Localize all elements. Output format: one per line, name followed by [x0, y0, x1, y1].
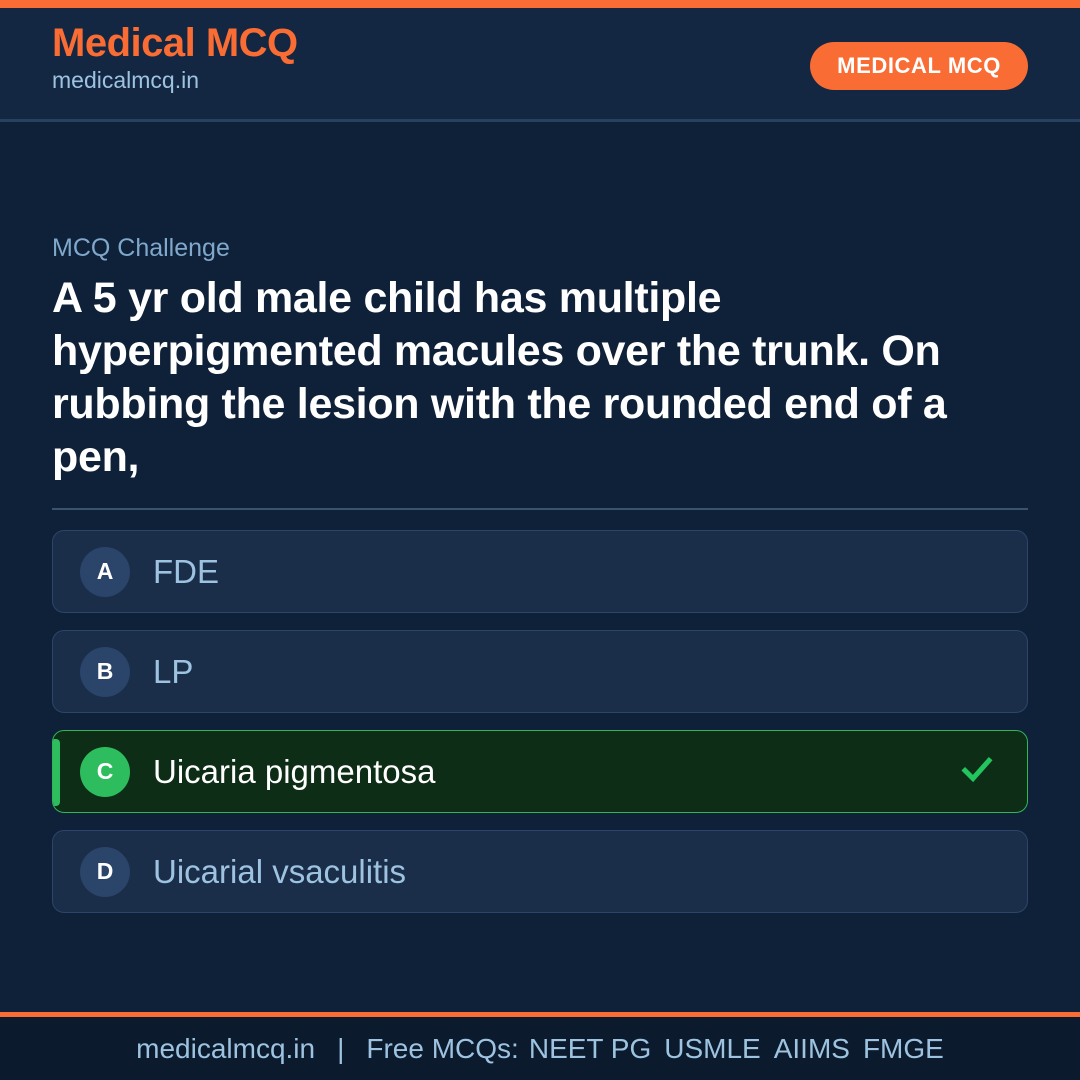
app-header: Medical MCQ medicalmcq.in MEDICAL MCQ [0, 8, 1080, 122]
option-letter-badge: B [80, 647, 130, 697]
option-d[interactable]: D Uicarial vsaculitis [52, 830, 1028, 913]
option-label: FDE [153, 552, 219, 592]
option-b[interactable]: B LP [52, 630, 1028, 713]
section-kicker: MCQ Challenge [52, 232, 1028, 264]
header-badge[interactable]: MEDICAL MCQ [810, 42, 1028, 90]
footer-content: medicalmcq.in | Free MCQs: NEET PG USMLE… [136, 1032, 944, 1066]
footer-exam-neet-pg[interactable]: NEET PG [529, 1032, 651, 1066]
option-label: Uicarial vsaculitis [153, 852, 406, 892]
footer-separator: | [337, 1032, 344, 1066]
option-label: LP [153, 652, 193, 692]
footer-label: Free MCQs: [366, 1032, 518, 1066]
question-section: MCQ Challenge A 5 yr old male child has … [52, 232, 1028, 930]
footer-site[interactable]: medicalmcq.in [136, 1032, 315, 1066]
option-letter-badge: D [80, 847, 130, 897]
brand-subtitle: medicalmcq.in [52, 66, 298, 94]
page-footer: medicalmcq.in | Free MCQs: NEET PG USMLE… [0, 1012, 1080, 1080]
check-icon [957, 749, 997, 794]
option-letter-badge: C [80, 747, 130, 797]
brand-title: Medical MCQ [52, 20, 298, 66]
question-text: A 5 yr old male child has multiple hyper… [52, 272, 1028, 484]
option-label: Uicaria pigmentosa [153, 752, 435, 792]
top-accent-strip [0, 0, 1080, 8]
brand: Medical MCQ medicalmcq.in [52, 20, 298, 94]
options-list: A FDE B LP C Uicaria pigmentosa [52, 530, 1028, 913]
footer-exam-usmle[interactable]: USMLE [664, 1032, 760, 1066]
footer-exam-fmge[interactable]: FMGE [863, 1032, 944, 1066]
option-letter-badge: A [80, 547, 130, 597]
question-divider [52, 508, 1028, 510]
option-a[interactable]: A FDE [52, 530, 1028, 613]
option-c[interactable]: C Uicaria pigmentosa [52, 730, 1028, 813]
footer-exam-aiims[interactable]: AIIMS [774, 1032, 850, 1066]
correct-accent-bar [53, 739, 60, 806]
